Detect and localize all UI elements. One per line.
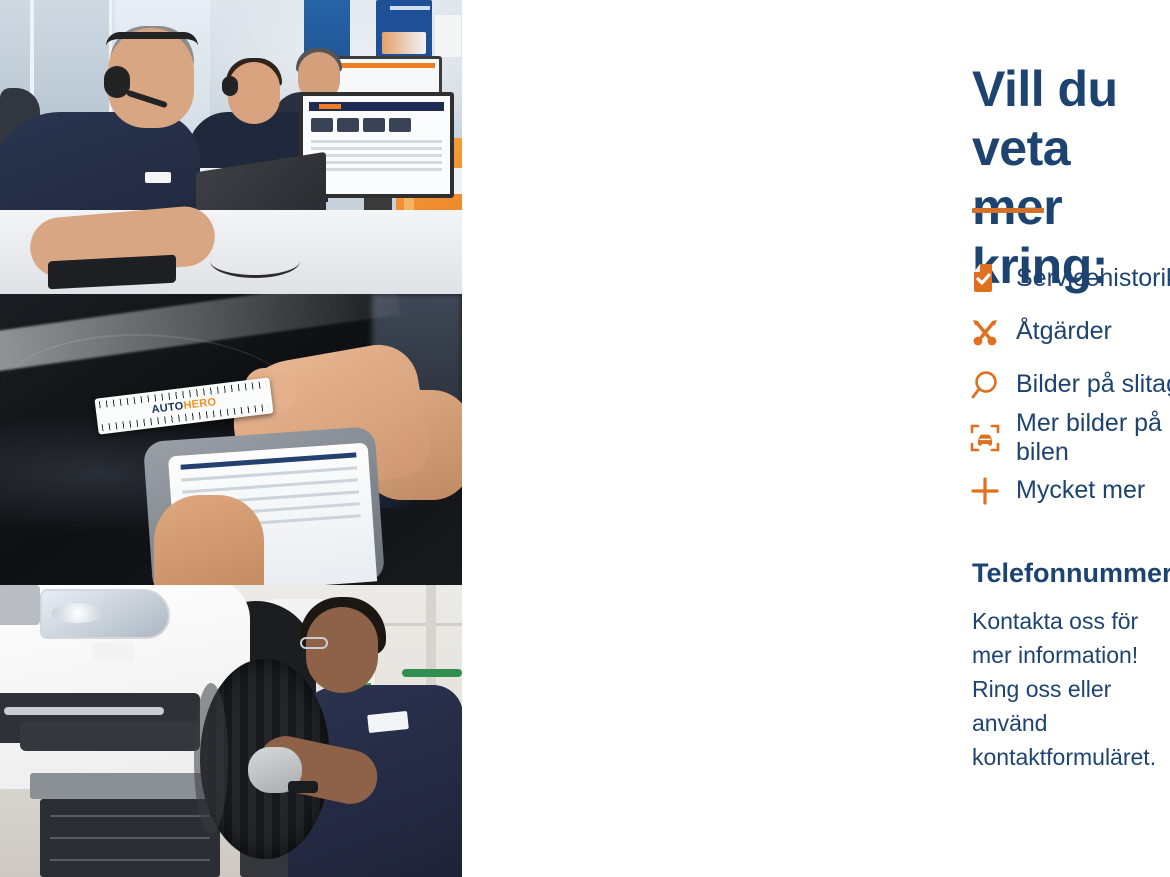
feature-item-atgarder: Åtgärder (970, 305, 1170, 358)
photo-column: AUTOHERO (0, 0, 462, 877)
phone-line: Telefonnummer: +46812411432 (972, 558, 1170, 589)
feature-list: Servicehistoriken Åtgärder (970, 252, 1170, 517)
title-underline-rule (972, 208, 1044, 213)
tyre-change-workshop-photo (0, 585, 462, 877)
feature-label: Bilder på slitage (1016, 370, 1170, 399)
feature-label: Servicehistoriken (1016, 264, 1170, 293)
feature-item-servicehistoriken: Servicehistoriken (970, 252, 1170, 305)
checklist-check-icon (970, 264, 1016, 294)
feature-item-bilder-pa-slitage: Bilder på slitage (970, 358, 1170, 411)
feature-label: Mycket mer (1016, 476, 1145, 505)
feature-label: Mer bilder på bilen (1016, 409, 1170, 467)
headline-line-1: Vill du veta (972, 61, 1118, 176)
autohero-ruler-inspection-photo: AUTOHERO (0, 294, 462, 585)
phone-label: Telefonnummer: (972, 558, 1170, 588)
contact-line-2: Ring oss eller använd kontaktformuläret. (972, 672, 1170, 774)
plus-icon (970, 476, 1016, 506)
magnifier-icon (970, 370, 1016, 400)
feature-item-mycket-mer: Mycket mer (970, 464, 1170, 517)
car-scan-icon (970, 423, 1016, 453)
feature-item-mer-bilder-pa-bilen: Mer bilder på bilen (970, 411, 1170, 464)
wrench-screwdriver-icon (970, 317, 1016, 347)
promo-page: AUTOHERO (0, 0, 1170, 877)
feature-label: Åtgärder (1016, 317, 1112, 346)
contact-text: Kontakta oss för mer information! Ring o… (972, 604, 1170, 774)
call-center-agents-photo (0, 0, 462, 294)
contact-line-1: Kontakta oss för mer information! (972, 604, 1170, 672)
content-panel: Vill du veta mer kring: Vi berättar gärn… (462, 0, 1170, 877)
